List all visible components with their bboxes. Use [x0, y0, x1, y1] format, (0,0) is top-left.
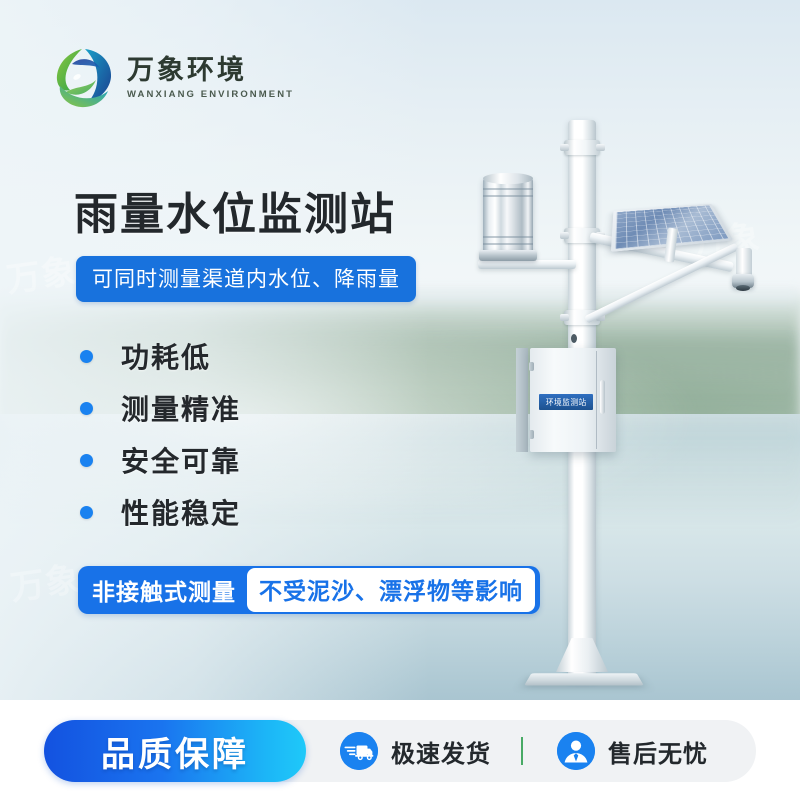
control-cabinet: 环境监测站	[530, 348, 616, 452]
brand-name-cn: 万象环境	[127, 56, 294, 84]
feature-label: 测量精准	[121, 388, 241, 428]
rain-gauge-rib	[483, 195, 533, 197]
bullet-dot-icon	[80, 402, 93, 415]
feature-label: 功耗低	[121, 336, 211, 376]
pole-clamp	[560, 314, 569, 321]
subtitle-badge: 可同时测量渠道内水位、降雨量	[76, 256, 416, 302]
product-photo: 环境监测站	[430, 110, 800, 710]
brand-logo[interactable]: 万象环境 WANXIANG ENVIRONMENT	[52, 46, 294, 110]
delivery-truck-icon	[340, 732, 378, 770]
cabinet-handle	[600, 380, 605, 414]
feature-label: 性能稳定	[121, 492, 241, 532]
bullet-dot-icon	[80, 506, 93, 519]
assurance-divider	[521, 737, 523, 765]
rain-gauge-rib	[483, 236, 533, 238]
quality-guarantee-pill: 品质保障	[44, 720, 306, 782]
assurance-label: 售后无忧	[608, 734, 708, 769]
pole-cable-hole	[571, 334, 577, 343]
cabinet-hinge	[529, 430, 534, 439]
globe-swirl-logo-icon	[52, 46, 116, 110]
list-item: 功耗低	[80, 330, 241, 382]
pole-clamp	[560, 232, 569, 239]
rain-gauge-cylinder	[483, 172, 533, 260]
page-title: 雨量水位监测站	[74, 178, 396, 242]
quality-guarantee-label: 品质保障	[101, 727, 249, 776]
pole-collar	[564, 140, 600, 155]
brand-logo-text: 万象环境 WANXIANG ENVIRONMENT	[127, 56, 294, 99]
product-poster: 万象 万象 万象	[0, 0, 800, 800]
non-contact-banner: 非接触式测量 不受泥沙、漂浮物等影响	[78, 566, 540, 614]
rain-gauge-rib	[483, 188, 533, 190]
bullet-dot-icon	[80, 350, 93, 363]
cabinet-label-text: 环境监测站	[546, 397, 587, 408]
list-item: 性能稳定	[80, 486, 241, 538]
rain-gauge-funnel	[483, 173, 533, 184]
bullet-dot-icon	[80, 454, 93, 467]
assurance-bar: 品质保障	[44, 720, 756, 782]
cabinet-label: 环境监测站	[539, 394, 593, 410]
customer-service-icon	[557, 732, 595, 770]
non-contact-banner-left: 非接触式测量	[92, 573, 247, 607]
pole-clamp	[560, 144, 569, 151]
sensor-lens-icon	[736, 285, 750, 291]
rain-gauge-rib	[483, 243, 533, 245]
cabinet-hinge	[529, 362, 534, 371]
cabinet-side-panel	[516, 348, 528, 452]
feature-list: 功耗低 测量精准 安全可靠 性能稳定	[80, 330, 241, 538]
assurance-label: 极速发货	[391, 734, 491, 769]
list-item: 安全可靠	[80, 434, 241, 486]
assurance-items: 极速发货 售后无忧	[306, 720, 756, 782]
rain-gauge-base	[479, 250, 537, 261]
rain-gauge-arm	[478, 260, 576, 269]
list-item: 测量精准	[80, 382, 241, 434]
pole-clamp	[596, 144, 605, 151]
assurance-item-after-sales: 售后无忧	[557, 732, 708, 770]
assurance-item-shipping: 极速发货	[340, 732, 491, 770]
brand-name-en: WANXIANG ENVIRONMENT	[127, 89, 294, 100]
base-plate	[524, 673, 644, 685]
base-cone	[556, 638, 608, 672]
non-contact-banner-right: 不受泥沙、漂浮物等影响	[247, 568, 535, 612]
feature-label: 安全可靠	[121, 440, 241, 480]
